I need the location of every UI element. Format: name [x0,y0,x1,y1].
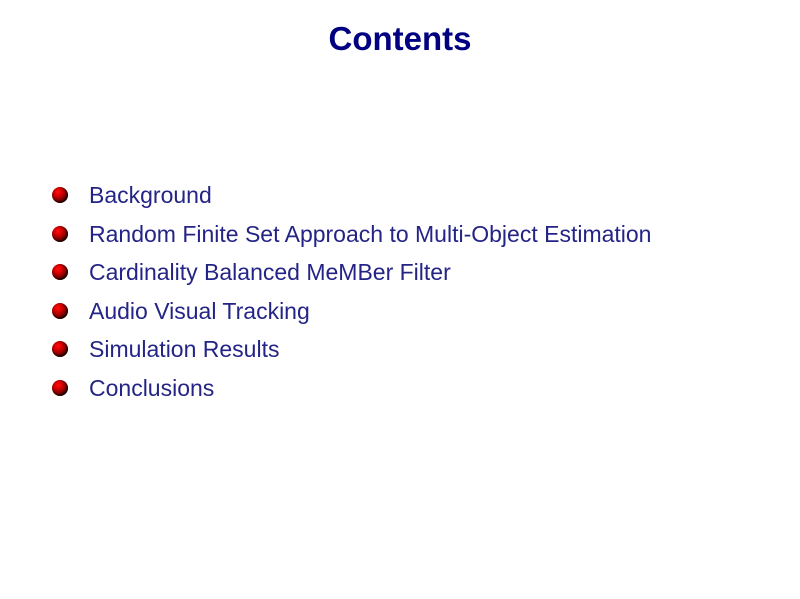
sphere-bullet-icon [52,264,68,280]
sphere-bullet-icon [52,187,68,203]
sphere-bullet-icon [52,380,68,396]
list-item[interactable]: Background [52,176,782,215]
sphere-bullet-icon [52,341,68,357]
contents-list: Background Random Finite Set Approach to… [52,176,782,407]
list-item-label: Random Finite Set Approach to Multi-Obje… [89,221,651,247]
list-item-label: Audio Visual Tracking [89,298,310,324]
list-item[interactable]: Audio Visual Tracking [52,292,782,331]
presentation-slide: Contents Background Random Finite Set Ap… [0,0,800,599]
list-item-label: Simulation Results [89,336,279,362]
list-item[interactable]: Simulation Results [52,330,782,369]
list-item-label: Background [89,182,212,208]
sphere-bullet-icon [52,303,68,319]
list-item[interactable]: Cardinality Balanced MeMBer Filter [52,253,782,292]
sphere-bullet-icon [52,226,68,242]
list-item-label: Cardinality Balanced MeMBer Filter [89,259,451,285]
page-title: Contents [0,19,800,59]
list-item[interactable]: Conclusions [52,369,782,408]
list-item-label: Conclusions [89,375,214,401]
list-item[interactable]: Random Finite Set Approach to Multi-Obje… [52,215,782,254]
